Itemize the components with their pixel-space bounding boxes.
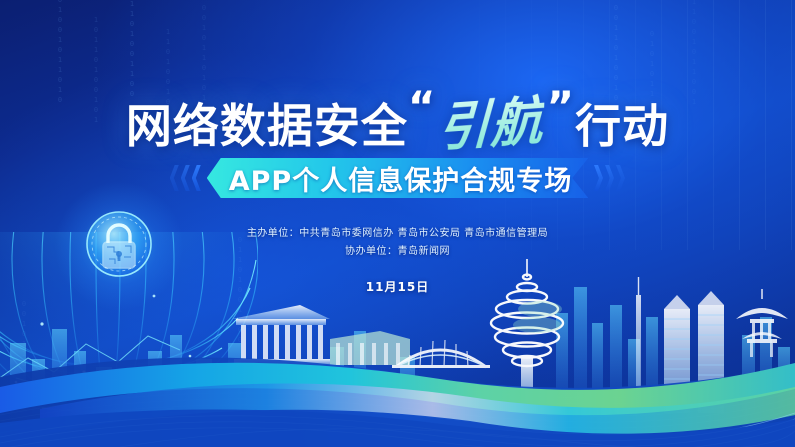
- title-brush-word: 引航: [437, 78, 545, 161]
- city-skyline-scene: [0, 247, 795, 447]
- subtitle-banner-row: APP个人信息保护合规专场: [0, 158, 795, 198]
- chevron-right-icon: [594, 165, 625, 191]
- quote-open: “: [408, 82, 437, 131]
- subtitle-banner: APP个人信息保护合规专场: [207, 158, 588, 198]
- poster-canvas: 01001011010 10110100101 01101001100 1101…: [0, 0, 795, 447]
- skyline-svg: [0, 247, 795, 447]
- title-prefix: 网络数据安全: [126, 99, 408, 153]
- chevron-left-icon: [170, 165, 201, 191]
- subtitle-text: APP个人信息保护合规专场: [229, 159, 572, 198]
- colonnade-building: [232, 305, 410, 365]
- quote-close: ”: [547, 82, 576, 131]
- title-suffix: 行动: [575, 99, 669, 153]
- page-title: 网络数据安全“引航”行动: [0, 82, 795, 157]
- organizer-line: 主办单位：中共青岛市委网信办 青岛市公安局 青岛市通信管理局: [0, 225, 795, 243]
- may-wind-sculpture: [491, 259, 563, 407]
